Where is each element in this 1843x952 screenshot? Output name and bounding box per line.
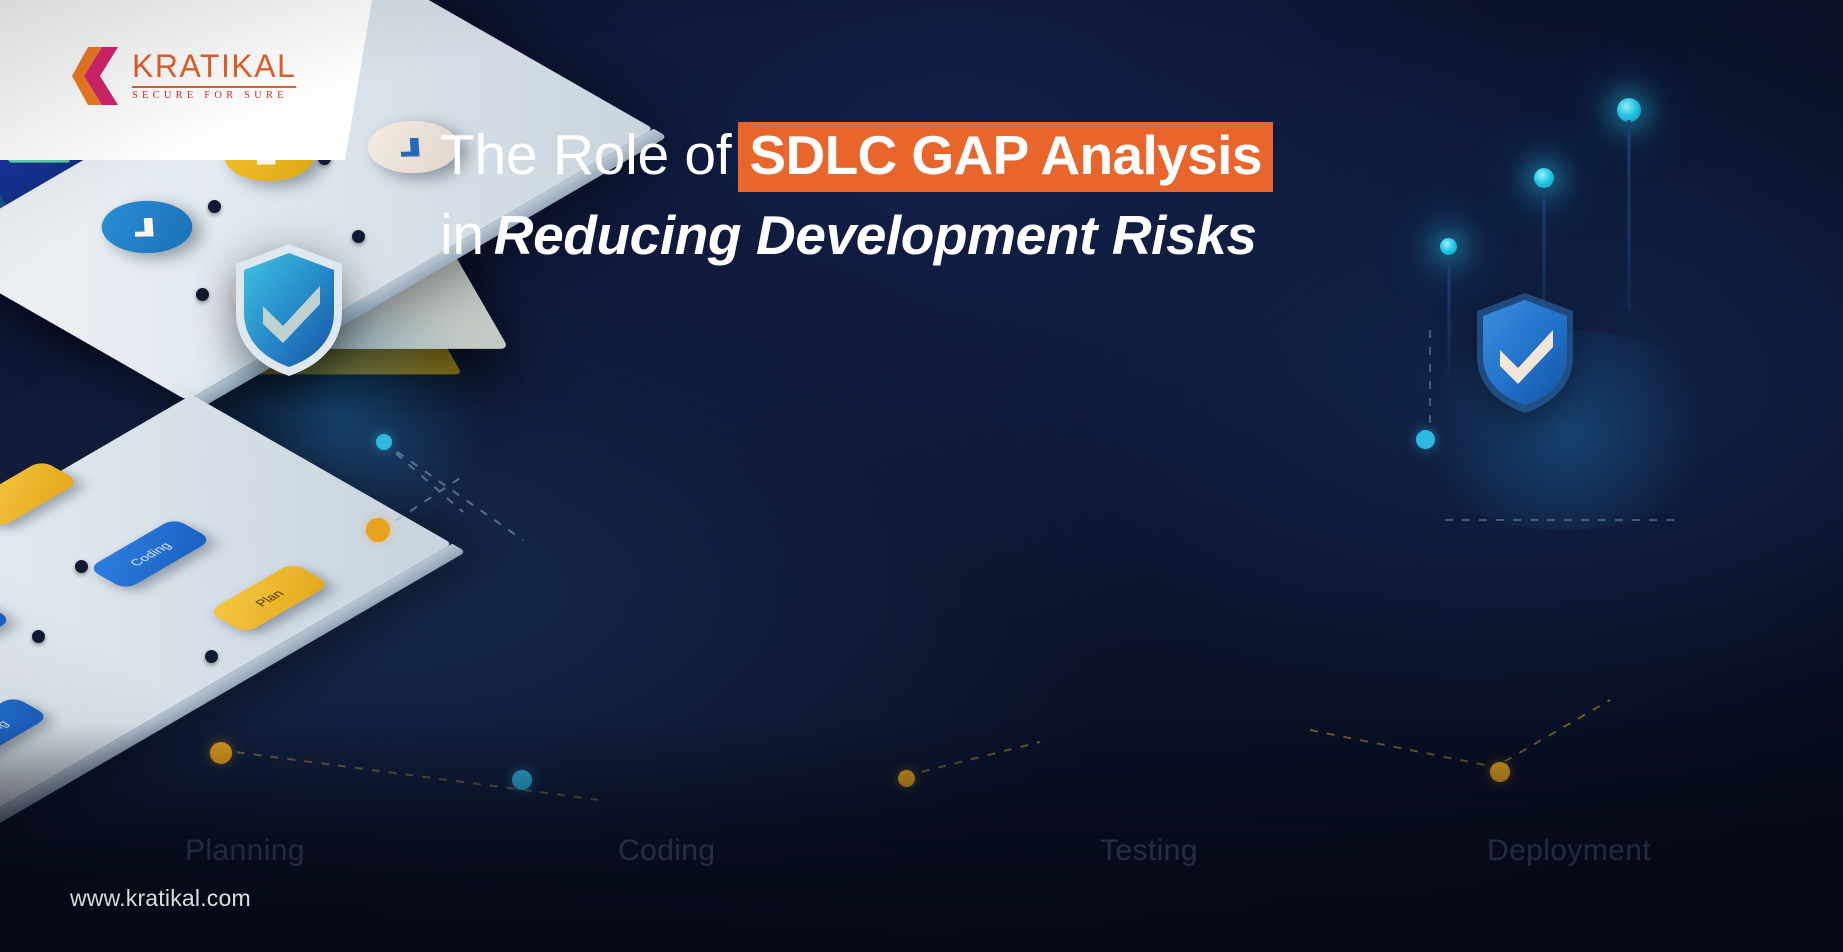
connector-dot <box>366 518 390 542</box>
glowing-orb-lamp-icon <box>1617 98 1641 122</box>
headline-line2-italic: Reducing Development Risks <box>494 204 1257 266</box>
stage-label-coding: Coding <box>618 834 715 868</box>
headline-highlight: SDLC GAP Analysis <box>738 122 1272 192</box>
brand-name: KRATIKAL <box>132 50 296 82</box>
brand-tagline: SECURE FOR SURE <box>132 91 296 102</box>
sdlc-gap-analysis-banner: Testing Coding Plan Planning Config <box>0 0 1843 952</box>
connector-dot <box>1416 430 1435 449</box>
logo-divider <box>132 86 296 88</box>
shield-check-icon <box>1470 290 1580 416</box>
stage-label-deployment: Deployment <box>1487 834 1651 868</box>
connector-dot <box>512 770 532 790</box>
brand-logo-panel[interactable]: KRATIKAL SECURE FOR SURE <box>0 0 372 160</box>
connector-dot <box>210 742 232 764</box>
shield-check-icon <box>228 240 350 380</box>
stage-label-testing: Testing <box>1100 834 1198 868</box>
connector-dot <box>376 434 392 450</box>
headline-line1-plain: The Role of <box>440 123 731 187</box>
stage-label-planning: Planning <box>185 834 305 868</box>
connector-dot <box>1490 762 1510 782</box>
connector-dot <box>898 770 915 787</box>
chevron-left-mark-icon <box>72 47 118 105</box>
glowing-orb-lamp-icon <box>1534 168 1554 188</box>
headline-line2-plain: in <box>440 203 484 267</box>
page-title: The Role ofSDLC GAP Analysis inReducing … <box>440 122 1490 264</box>
website-url[interactable]: www.kratikal.com <box>70 885 251 912</box>
